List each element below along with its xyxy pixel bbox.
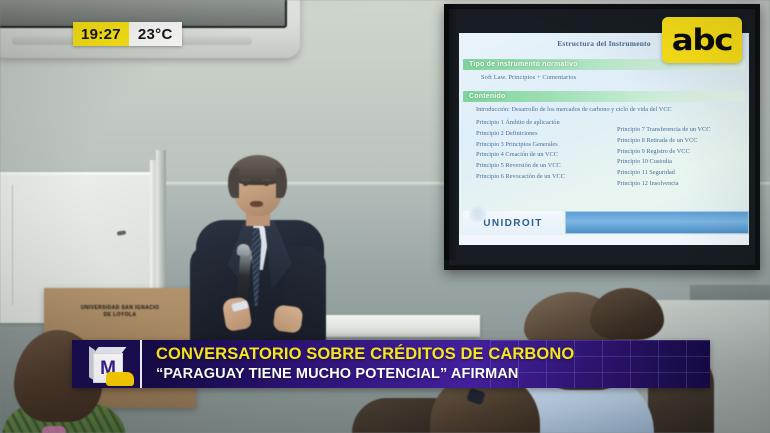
banner-headline: CONVERSATORIO SOBRE CRÉDITOS DE CARBONO	[156, 346, 710, 363]
slide-intro-line: Introducción: Desarrollo de los mercados…	[476, 106, 672, 113]
slide-principle-item: Principio 6 Revocación de un VCC	[476, 172, 565, 183]
slide-principle-item: Principio 2 Definiciones	[476, 129, 565, 140]
speaker-brow-right	[262, 179, 271, 181]
banner-subtitle: “PARAGUAY TIENE MUCHO POTENCIAL” AFIRMAN	[156, 366, 710, 382]
podium-sign-line-2: DE LOYOLA	[104, 312, 137, 319]
slide-principle-item: Principio 11 Seguridad	[617, 168, 710, 179]
lower-third-banner: M CONVERSATORIO SOBRE CRÉDITOS DE CARBON…	[72, 340, 710, 388]
network-logo: M	[72, 340, 142, 388]
slide-principle-item: Principio 10 Custodia	[617, 157, 710, 168]
slide-section-header-2: Contenido	[463, 91, 745, 102]
podium-sign: UNIVERSIDAD SAN IGNACIO DE LOYOLA	[56, 294, 184, 330]
yellow-wedge-icon	[106, 372, 134, 386]
whiteboard-streak	[12, 185, 13, 305]
unidroit-label: UNIDROIT	[483, 218, 543, 229]
lower-third-text-area: CONVERSATORIO SOBRE CRÉDITOS DE CARBONO …	[142, 340, 710, 388]
slide-principles-left: Principio 1 Ámbito de aplicación Princip…	[476, 118, 565, 183]
slide-principle-item: Principio 9 Registro de VCC	[617, 147, 710, 158]
speaker-hair-right	[276, 168, 287, 198]
speaker-mouth	[250, 201, 263, 207]
audience-pink-accessory	[42, 426, 66, 433]
slide-principle-item: Principio 3 Principios Generales	[476, 140, 565, 151]
slide-section-1-body: Soft Law. Principios + Comentarios	[481, 74, 576, 81]
audience-person-back-right	[590, 288, 664, 344]
slide-footer-logo: UNIDROIT	[463, 211, 563, 235]
clock-value: 19:27	[73, 22, 129, 46]
speaker-eye-left	[243, 183, 248, 186]
unidroit-seal-icon	[469, 205, 487, 223]
slide-principle-item: Principio 5 Reversión de un VCC	[476, 161, 565, 172]
slide-footer-bar	[565, 211, 749, 234]
podium-sign-line-1: UNIVERSIDAD SAN IGNACIO	[81, 305, 159, 312]
clock-temperature-badge: 19:27 23°C	[73, 22, 182, 46]
speaker-hand-right	[273, 304, 304, 333]
audience-hair	[590, 288, 664, 340]
marker-icon	[117, 230, 127, 235]
speaker-hair-left	[228, 168, 239, 198]
slide-principle-item: Principio 8 Retirada de un VCC	[617, 136, 710, 147]
slide-principle-item: Principio 1 Ámbito de aplicación	[476, 118, 565, 129]
slide-section-header-1-label: Tipo de instrumento normativo	[463, 61, 578, 68]
speaker-eye-right	[264, 183, 269, 186]
slide-content: Estructura del Instrumento Tipo de instr…	[459, 33, 749, 245]
screen-edge-shadow	[444, 4, 458, 260]
channel-logo: abc	[662, 17, 742, 63]
slide-footer-strip	[459, 235, 749, 245]
microphone-head-icon	[237, 243, 251, 256]
slide-principle-item: Principio 7 Transferencia de un VCC	[617, 125, 710, 136]
broadcast-frame: UNIVERSIDAD SAN IGNACIO DE LOYOLA	[0, 0, 770, 433]
temperature-value: 23°C	[129, 22, 182, 46]
slide-principle-item: Principio 4 Creación de un VCC	[476, 150, 565, 161]
slide-principle-item: Principio 12 Insolvencia	[617, 179, 710, 190]
channel-logo-label: abc	[672, 26, 732, 55]
slide-section-header-2-label: Contenido	[463, 93, 505, 100]
slide-principles-right: Principio 7 Transferencia de un VCC Prin…	[617, 125, 710, 190]
speaker-person	[186, 158, 336, 343]
speaker-brow-left	[241, 179, 250, 181]
